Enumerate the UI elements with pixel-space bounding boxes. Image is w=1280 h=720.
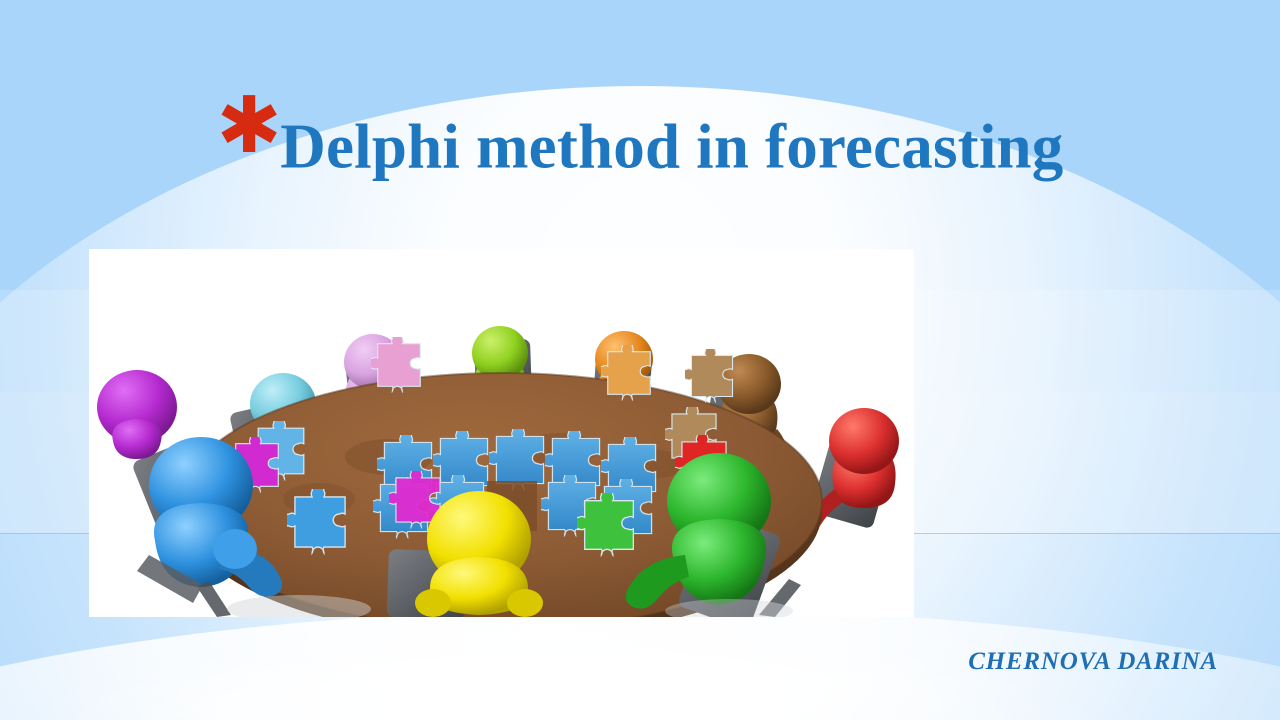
meeting-illustration [89, 249, 914, 617]
meeting-illustration-graphic [89, 249, 914, 617]
slide-title: ✱Delphi method in forecasting [0, 86, 1280, 179]
footer-author: CHERNOVA DARINA [968, 648, 1218, 676]
page-title: Delphi method in forecasting [280, 112, 1063, 182]
slide-canvas: ✱Delphi method in forecasting [0, 0, 1280, 720]
asterisk-bullet-icon: ✱ [217, 81, 281, 169]
